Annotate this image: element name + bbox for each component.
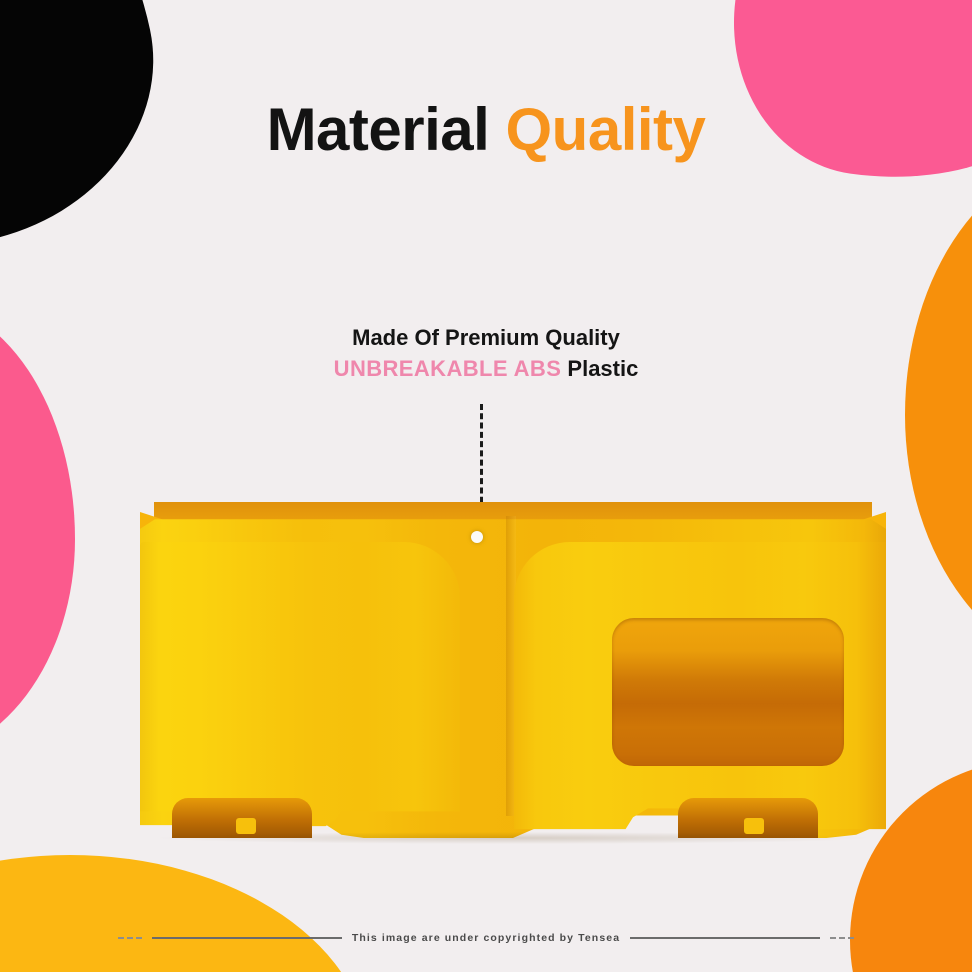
- promo-canvas: Material Quality Made Of Premium Quality…: [0, 0, 972, 972]
- blob-right-orange-icon: [905, 155, 972, 675]
- dashed-vertical-line-icon: [480, 404, 483, 512]
- blob-bottom-left-amber-icon: [0, 855, 370, 972]
- page-title-part2: Quality: [506, 96, 706, 163]
- product-left-compartment-panel: [140, 542, 460, 838]
- footer-copyright: This image are under copyrighted by Tens…: [0, 932, 972, 944]
- horizontal-rule-icon-right-dash: [830, 937, 854, 939]
- product-front-window-cutout: [612, 618, 844, 766]
- subtitle-line-2-rest: Plastic: [561, 356, 638, 381]
- subtitle-highlight: UNBREAKABLE ABS: [334, 356, 562, 381]
- footer-copyright-text: This image are under copyrighted by Tens…: [352, 932, 620, 944]
- horizontal-rule-icon-right: [630, 937, 820, 939]
- product-ground-shadow: [160, 832, 866, 844]
- page-title: Material Quality: [0, 98, 972, 161]
- screw-hole-dot-icon: [471, 531, 483, 543]
- subtitle-line-1: Made Of Premium Quality: [0, 322, 972, 353]
- subtitle-line-2: UNBREAKABLE ABS Plastic: [0, 353, 972, 384]
- horizontal-rule-icon-left-dash: [118, 937, 142, 939]
- horizontal-rule-icon-left: [152, 937, 342, 939]
- subtitle-block: Made Of Premium Quality UNBREAKABLE ABS …: [0, 322, 972, 384]
- page-title-part1: Material: [267, 96, 490, 163]
